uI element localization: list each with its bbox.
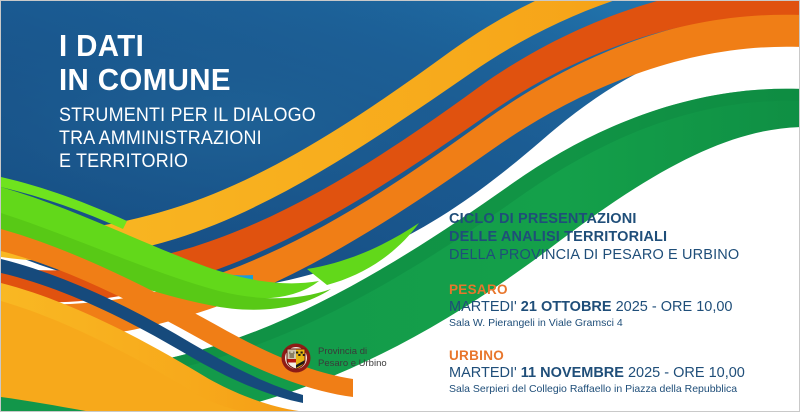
event-date-urbino: MARTEDI' 11 NOVEMBRE 2025 - ORE 10,00 [449,364,789,382]
event-city-urbino: URBINO [449,348,789,364]
event-date-prefix-urbino: MARTEDI' [449,365,517,381]
headline-subline-1: STRUMENTI PER IL DIALOGO [59,104,372,127]
headline-line-2: IN COMUNE [59,63,382,97]
info-block: CICLO DI PRESENTAZIONI DELLE ANALISI TER… [449,211,789,396]
info-title-line-2: DELLE ANALISI TERRITORIALI [449,229,789,247]
event-date-suffix-pesaro: 2025 - ORE 10,00 [616,299,733,315]
event-date-strong-urbino: 11 NOVEMBRE [521,365,624,381]
headline-subline-2: TRA AMMINISTRAZIONI [59,127,372,150]
event-urbino: URBINO MARTEDI' 11 NOVEMBRE 2025 - ORE 1… [449,348,789,396]
province-logo-text: Provincia di Pesaro e Urbino [318,346,387,370]
province-seal-icon [281,343,311,373]
headline-line-1: I DATI [59,29,382,63]
event-pesaro: PESARO MARTEDI' 21 OTTOBRE 2025 - ORE 10… [449,282,789,330]
event-date-suffix-urbino: 2025 - ORE 10,00 [628,365,745,381]
headline-subline-3: E TERRITORIO [59,150,372,173]
poster-canvas: I DATI IN COMUNE STRUMENTI PER IL DIALOG… [0,0,800,412]
event-date-pesaro: MARTEDI' 21 OTTOBRE 2025 - ORE 10,00 [449,298,789,316]
event-venue-urbino: Sala Serpieri del Collegio Raffaello in … [449,382,789,396]
province-logo-line-1: Provincia di [318,346,387,358]
event-city-pesaro: PESARO [449,282,789,298]
event-venue-pesaro: Sala W. Pierangeli in Viale Gramsci 4 [449,316,789,330]
event-date-prefix-pesaro: MARTEDI' [449,299,517,315]
province-logo: Provincia di Pesaro e Urbino [281,343,387,373]
info-title-line-1: CICLO DI PRESENTAZIONI [449,211,789,229]
event-date-strong-pesaro: 21 OTTOBRE [521,299,612,315]
info-subtitle: DELLA PROVINCIA DI PESARO E URBINO [449,246,789,264]
headline-block: I DATI IN COMUNE STRUMENTI PER IL DIALOG… [59,29,399,173]
province-logo-line-2: Pesaro e Urbino [318,358,387,370]
